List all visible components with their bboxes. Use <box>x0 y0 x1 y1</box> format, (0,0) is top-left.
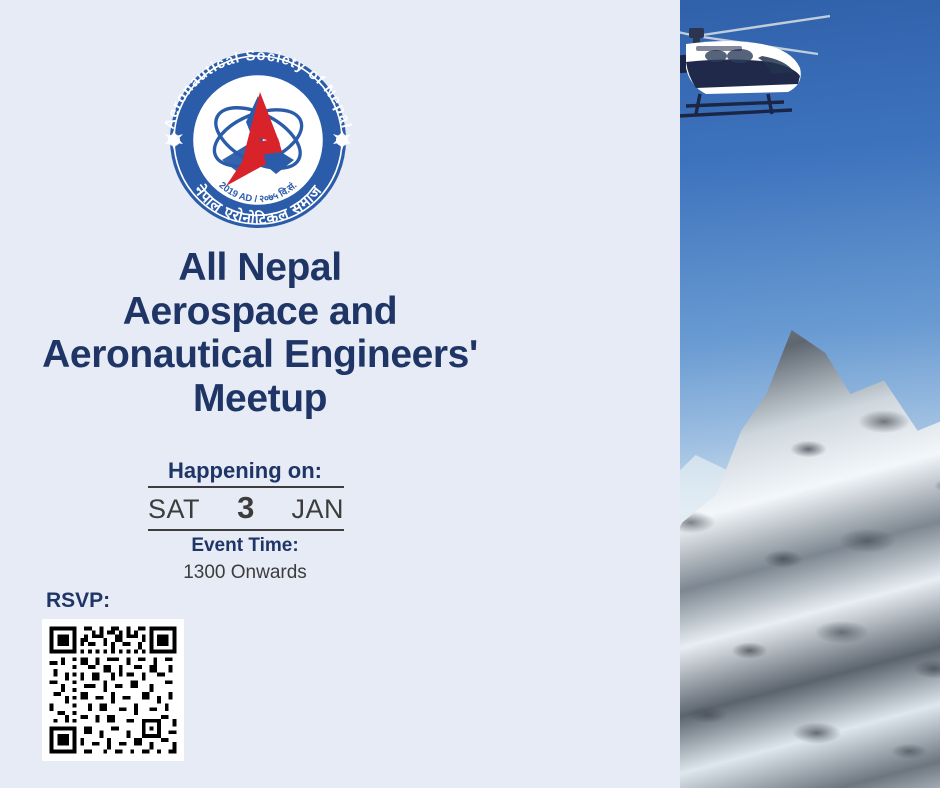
event-time-label: Event Time: <box>0 535 490 557</box>
event-date: SAT 3 JAN <box>148 486 344 531</box>
aeronautical-society-of-nepal-logo: Aeronautical Society of Nepal नेपाल एरोन… <box>148 34 368 246</box>
title-line-3: Aeronautical Engineers' <box>0 333 520 377</box>
event-day-number: 3 <box>237 490 254 526</box>
rsvp-label: RSVP: <box>46 589 110 613</box>
happening-on-label: Happening on: <box>0 458 490 484</box>
event-time-value: 1300 Onwards <box>0 562 490 584</box>
title-line-4: Meetup <box>0 377 520 421</box>
event-day-of-week: SAT <box>148 494 200 525</box>
rsvp-qr-code[interactable] <box>42 619 184 761</box>
event-poster: Aeronautical Society of Nepal नेपाल एरोन… <box>0 0 940 788</box>
title-line-1: All Nepal <box>0 246 520 290</box>
event-month: JAN <box>291 494 344 525</box>
helicopter-over-snowy-mountain-photo <box>470 0 940 788</box>
title-line-2: Aerospace and <box>0 290 520 334</box>
page-title: All Nepal Aerospace and Aeronautical Eng… <box>0 246 520 421</box>
